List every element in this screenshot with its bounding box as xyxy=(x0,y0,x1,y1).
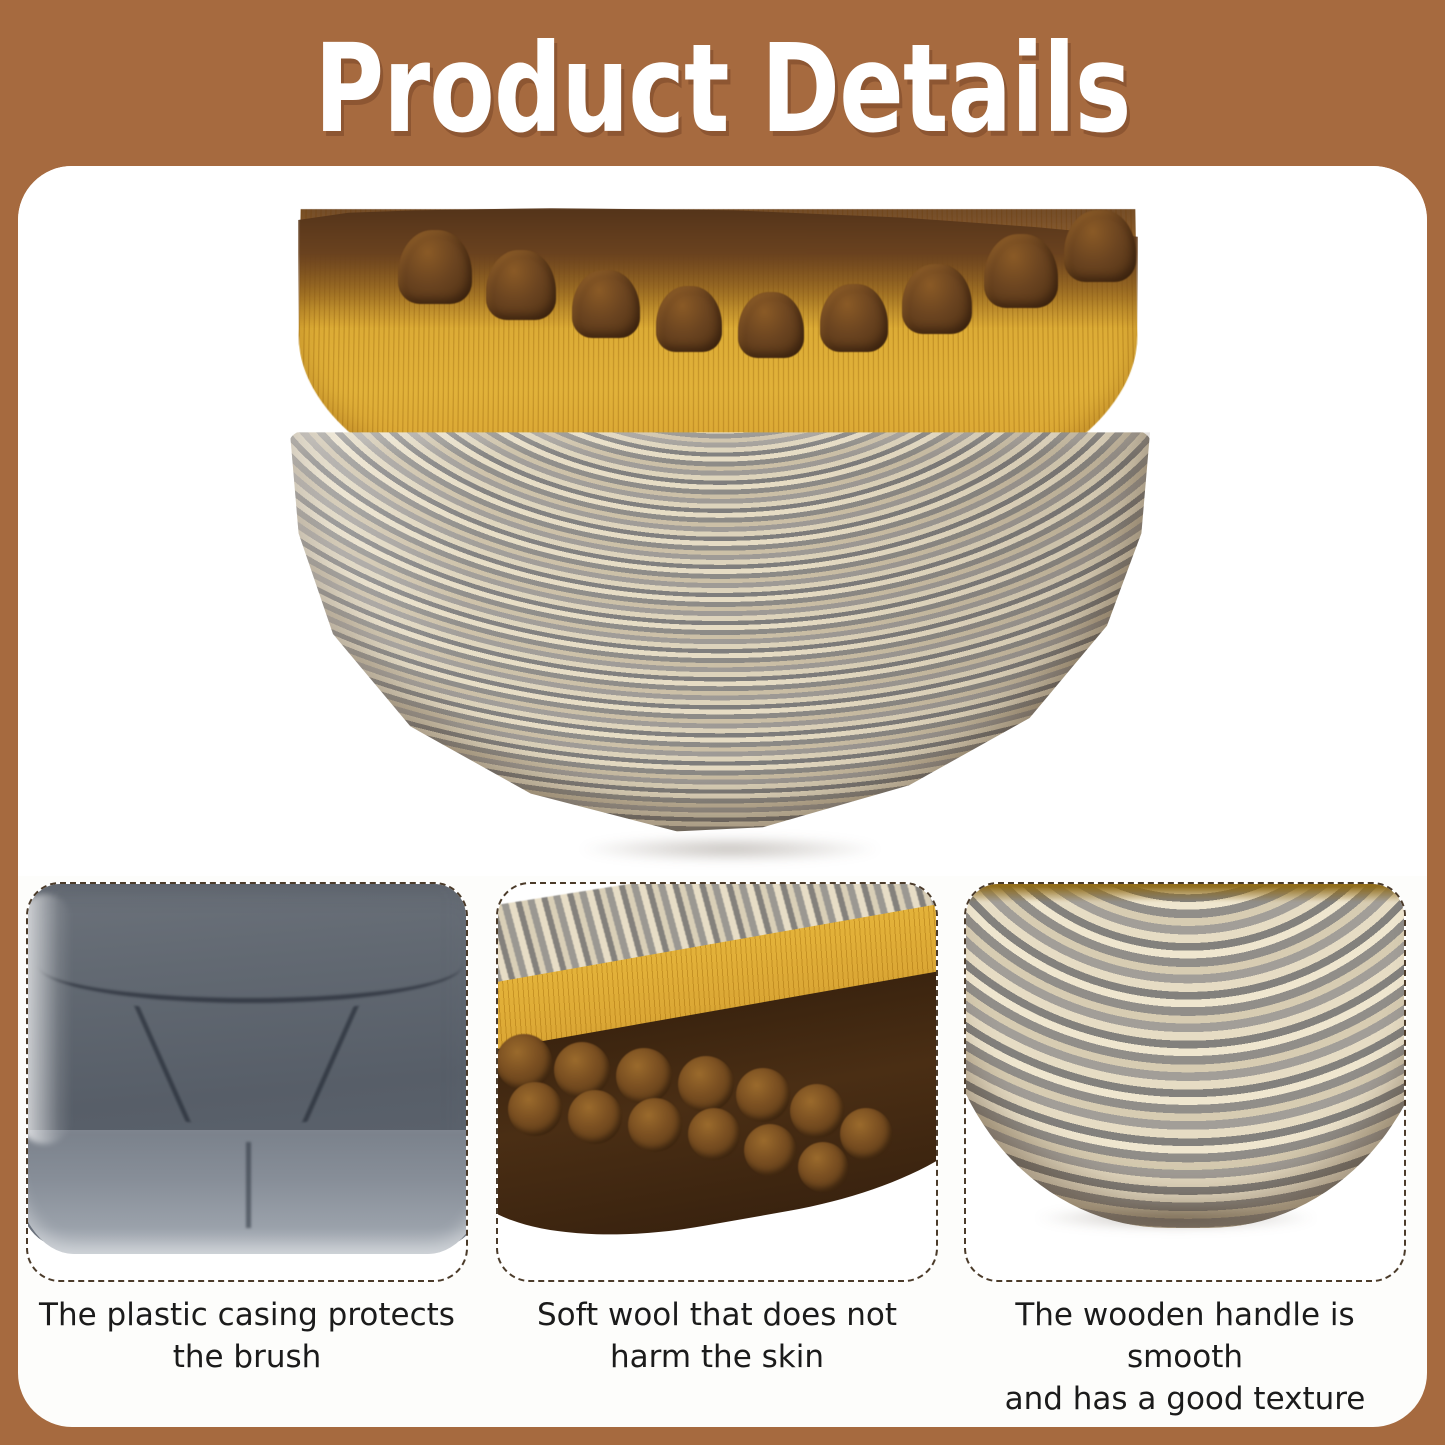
hero-tuft xyxy=(572,270,640,338)
plastic-seam-arc xyxy=(38,928,462,1003)
wool-tuft xyxy=(744,1124,796,1176)
hero-tuft xyxy=(984,234,1058,308)
hero-tuft xyxy=(738,292,804,358)
hero-tuft xyxy=(902,264,972,334)
feature-image-frame xyxy=(26,882,468,1282)
wooden-handle-image xyxy=(966,884,1404,1280)
hero-tuft xyxy=(820,284,888,352)
hero-tuft xyxy=(1064,210,1136,282)
feature-caption: The plastic casing protects the brush xyxy=(26,1294,468,1378)
wool-tuft xyxy=(840,1108,892,1160)
feature-item-soft-wool: Soft wool that does not harm the skin xyxy=(496,882,938,1427)
hero-stage xyxy=(280,188,1160,868)
wool-tuft xyxy=(688,1108,740,1160)
feature-thumbnails: The plastic casing protects the brush xyxy=(18,882,1427,1427)
wool-tuft xyxy=(554,1042,610,1098)
hero-product-image xyxy=(18,166,1427,876)
wool-tuft xyxy=(798,1142,848,1192)
wool-tuft xyxy=(616,1048,672,1104)
wool-tuft xyxy=(790,1084,844,1138)
plastic-gloss-highlight xyxy=(28,894,72,1144)
feature-image-frame xyxy=(496,882,938,1282)
feature-item-plastic-casing: The plastic casing protects the brush xyxy=(26,882,468,1427)
wool-tuft xyxy=(736,1068,790,1122)
hero-drop-shadow xyxy=(580,836,880,862)
feature-caption: The wooden handle is smooth and has a go… xyxy=(964,1294,1406,1420)
wool-tuft xyxy=(628,1098,682,1152)
hero-tuft xyxy=(486,250,556,320)
wool-tuft xyxy=(568,1090,622,1144)
plastic-casing-image xyxy=(28,884,466,1280)
page-title: Product Details xyxy=(159,26,1286,152)
wood-drop-shadow xyxy=(1036,1206,1316,1230)
feature-item-wooden-handle: The wooden handle is smooth and has a go… xyxy=(964,882,1406,1427)
wood-grain-body xyxy=(966,884,1404,1228)
hero-tuft xyxy=(398,230,472,304)
content-card: The plastic casing protects the brush xyxy=(18,166,1427,1427)
product-details-page: Product Details xyxy=(0,0,1445,1445)
feature-caption: Soft wool that does not harm the skin xyxy=(496,1294,938,1378)
feature-image-frame xyxy=(964,882,1406,1282)
plastic-seam-center xyxy=(246,1142,251,1228)
wood-gold-edge xyxy=(966,884,1404,902)
wool-tuft xyxy=(508,1082,562,1136)
hero-tuft xyxy=(656,286,722,352)
wool-tuft xyxy=(678,1056,734,1112)
hero-wooden-handle xyxy=(290,424,1150,844)
wool-tuft xyxy=(498,1034,552,1090)
soft-wool-image xyxy=(498,884,936,1280)
